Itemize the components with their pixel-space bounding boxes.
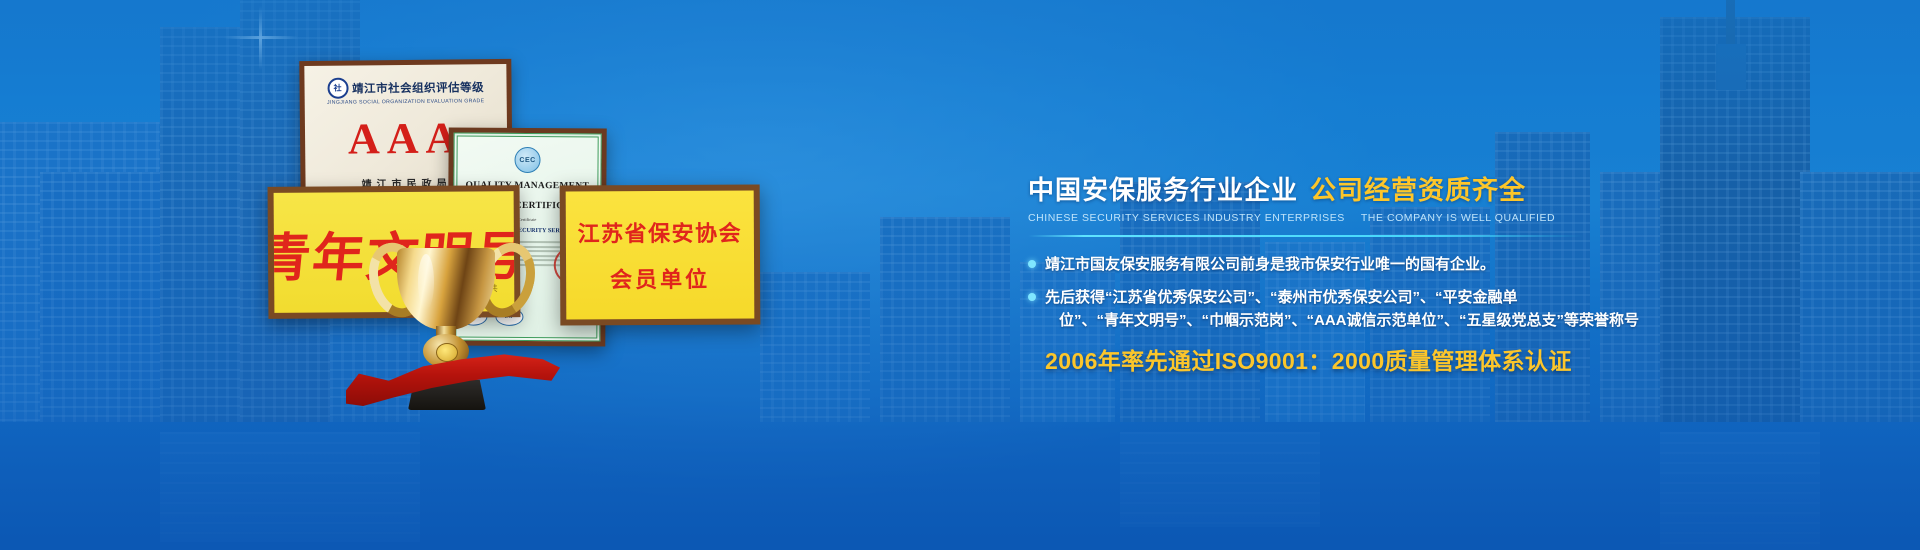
bullet-dot-icon: [1028, 293, 1036, 301]
certificates-group: 社 靖江市社会组织评估等级 JINGJIANG SOCIAL ORGANIZAT…: [0, 0, 900, 550]
highlight-text: 2006年率先通过ISO9001：2000质量管理体系认证: [1028, 342, 1648, 376]
iso-subtitle: Certificate: [518, 217, 537, 222]
security-association-plaque: 江苏省保安协会 会员单位: [560, 184, 761, 325]
organization-seal-icon: 社: [327, 78, 348, 99]
aaa-grade-value: AAA: [348, 116, 465, 161]
assoc-plaque-line1: 江苏省保安协会: [578, 216, 743, 249]
bullet-list: 靖江市国友保安服务有限公司前身是我市保安行业唯一的国有企业。 先后获得“江苏省优…: [1028, 253, 1648, 333]
promo-banner: 社 靖江市社会组织评估等级 JINGJIANG SOCIAL ORGANIZAT…: [0, 0, 1920, 550]
aaa-title-cn: 靖江市社会组织评估等级: [352, 79, 484, 96]
certification-body-logo-icon: CEC: [514, 147, 540, 173]
list-item: 先后获得“江苏省优秀保安公司”、“泰州市优秀保安公司”、“平安金融单 位”、“青…: [1028, 286, 1648, 333]
aaa-title-en: JINGJIANG SOCIAL ORGANIZATION EVALUATION…: [327, 98, 484, 106]
trophy-cup: [397, 248, 495, 330]
bullet-text-2: 先后获得“江苏省优秀保安公司”、“泰州市优秀保安公司”、“平安金融单 位”、“青…: [1045, 286, 1639, 333]
headline-secondary: 公司经营资质齐全: [1310, 170, 1526, 207]
bullet-dot-icon: [1028, 260, 1036, 268]
assoc-plaque-line2: 会员单位: [610, 262, 710, 295]
bullet-text-2-line2: 位”、“青年文明号”、“巾帼示范岗”、“AAA诚信示范单位”、“五星级党总支”等…: [1045, 309, 1639, 332]
trophy-highlight: [418, 254, 434, 310]
bullet-text-1: 靖江市国友保安服务有限公司前身是我市保安行业唯一的国有企业。: [1045, 253, 1495, 276]
divider: [1028, 235, 1584, 237]
list-item: 靖江市国友保安服务有限公司前身是我市保安行业唯一的国有企业。: [1028, 253, 1648, 276]
bullet-text-2-line1: 先后获得“江苏省优秀保安公司”、“泰州市优秀保安公司”、“平安金融单: [1045, 289, 1518, 306]
headline-primary: 中国安保服务行业企业: [1028, 170, 1298, 207]
banner-copy: 中国安保服务行业企业 公司经营资质齐全 CHINESE SECURITY SER…: [1028, 170, 1648, 376]
aaa-header: 社 靖江市社会组织评估等级: [327, 76, 484, 99]
headline-english: CHINESE SECURITY SERVICES INDUSTRY ENTER…: [1028, 212, 1648, 224]
headline-english-primary: CHINESE SECURITY SERVICES INDUSTRY ENTER…: [1028, 212, 1345, 224]
headline-english-secondary: THE COMPANY IS WELL QUALIFIED: [1361, 212, 1555, 224]
gold-trophy-icon: [352, 238, 542, 418]
trophy-medal-icon: [436, 343, 458, 362]
headline: 中国安保服务行业企业 公司经营资质齐全: [1028, 170, 1648, 207]
